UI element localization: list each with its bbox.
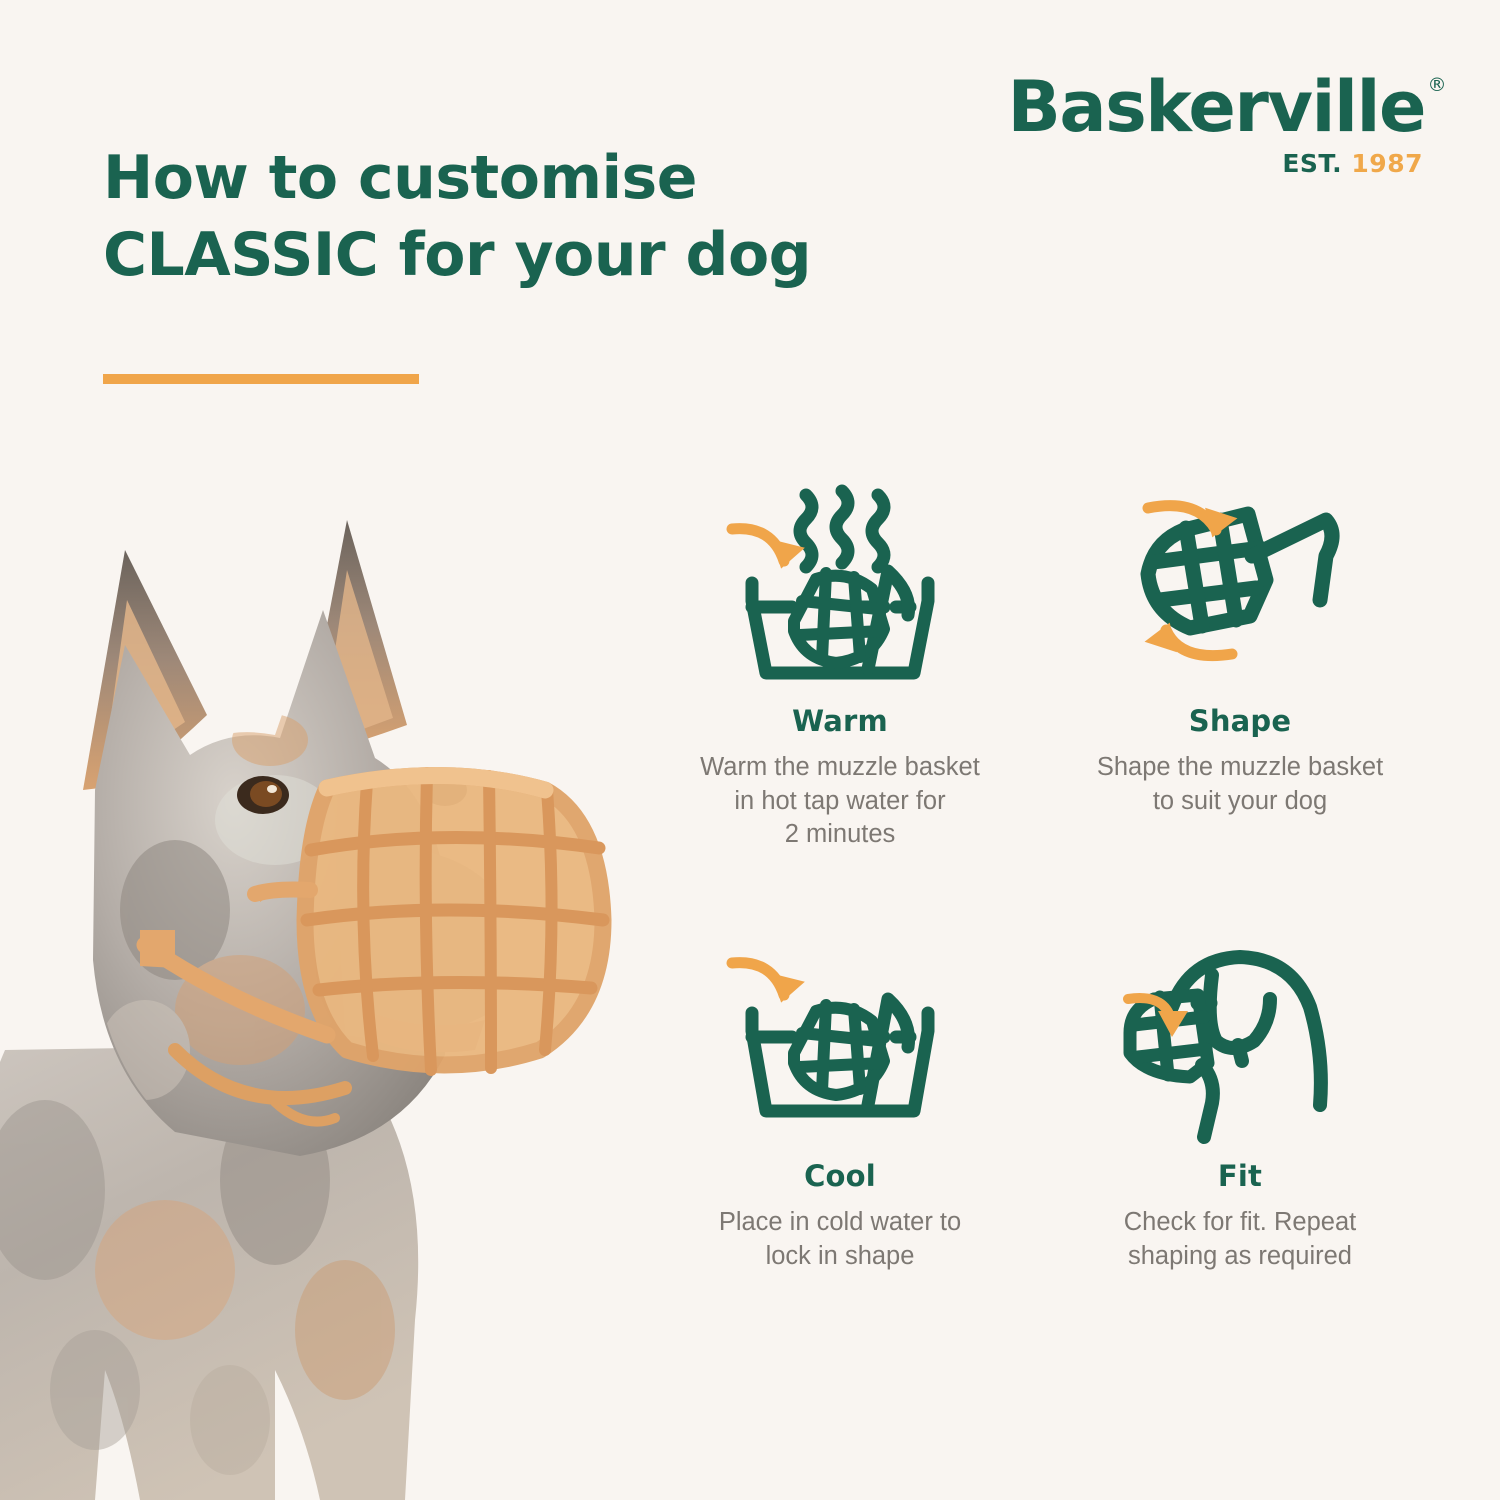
title-accent-bar xyxy=(103,374,419,384)
step-shape-title: Shape xyxy=(1054,704,1426,738)
step-shape-description: Shape the muzzle basket to suit your dog xyxy=(1054,751,1426,818)
step-cool-title: Cool xyxy=(654,1159,1026,1193)
step-cool-description: Place in cold water to lock in shape xyxy=(654,1206,1026,1273)
established-year: 1987 xyxy=(1351,149,1423,178)
page-title: How to customise CLASSIC for your dog xyxy=(103,140,903,294)
established-label: EST. xyxy=(1282,149,1342,178)
muzzle-squeeze-arrows-icon xyxy=(1054,470,1426,700)
product-photo xyxy=(0,490,615,1500)
dog-head-muzzle-fit-icon xyxy=(1054,940,1426,1155)
brand-wordmark: Baskerville ® xyxy=(1007,72,1425,142)
registered-trademark-icon: ® xyxy=(1428,76,1446,95)
established-line: EST. 1987 xyxy=(1007,151,1423,176)
step-warm-title: Warm xyxy=(654,704,1026,738)
step-warm-description: Warm the muzzle basket in hot tap water … xyxy=(654,751,1026,852)
basin-with-steam-icon xyxy=(654,470,1026,700)
basin-cold-water-icon xyxy=(654,940,1026,1155)
step-cool: Cool Place in cold water to lock in shap… xyxy=(640,940,1040,1273)
steps-grid: Warm Warm the muzzle basket in hot tap w… xyxy=(640,470,1440,1273)
step-shape: Shape Shape the muzzle basket to suit yo… xyxy=(1040,470,1440,852)
step-warm: Warm Warm the muzzle basket in hot tap w… xyxy=(640,470,1040,852)
step-fit-description: Check for fit. Repeat shaping as require… xyxy=(1054,1206,1426,1273)
brand-logo: Baskerville ® EST. 1987 xyxy=(1007,72,1425,176)
step-fit-title: Fit xyxy=(1054,1159,1426,1193)
page-title-line-2: CLASSIC for your dog xyxy=(103,217,903,294)
page-title-line-1: How to customise xyxy=(103,140,903,217)
brand-name: Baskerville xyxy=(1007,66,1425,148)
step-fit: Fit Check for fit. Repeat shaping as req… xyxy=(1040,940,1440,1273)
